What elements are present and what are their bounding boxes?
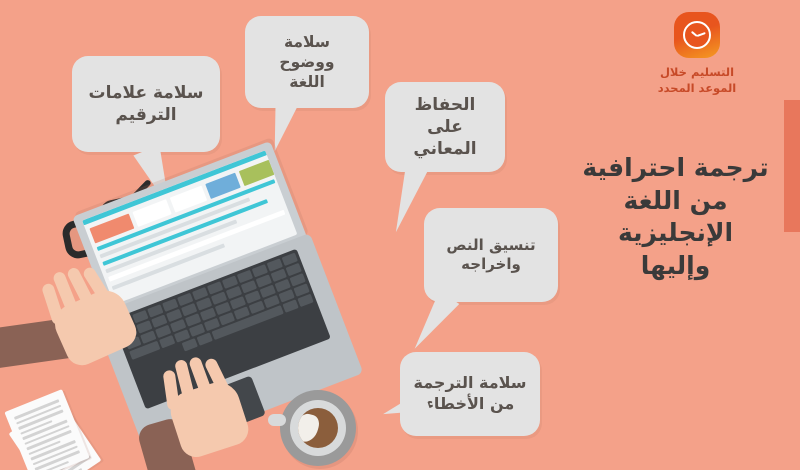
- right-accent-bar: [784, 100, 800, 232]
- keyboard-key: [197, 332, 213, 345]
- bubble-line-1: الحفاظ على: [395, 94, 495, 138]
- headline-line-3: الإنجليزية: [573, 217, 778, 250]
- headline-line-2: من اللغة: [573, 185, 778, 218]
- headline-line-1: ترجمة احترافية: [573, 152, 778, 185]
- paper-sheet: [4, 389, 89, 470]
- clock-minute-hand: [697, 32, 706, 37]
- bubble-text: سلامة ووضوح اللغة: [255, 32, 359, 92]
- page-title: ترجمة احترافية من اللغة الإنجليزية وإليه…: [573, 152, 778, 282]
- coffee-foam: [298, 412, 321, 444]
- logo-caption: التسليم خلال الموعد المحدد: [622, 65, 772, 96]
- brand-logo: التسليم خلال الموعد المحدد: [622, 12, 772, 96]
- coffee-cup: [290, 400, 346, 456]
- headline-line-4: وإليها: [573, 250, 778, 283]
- desk-illustration: [0, 150, 400, 470]
- poster-canvas: التسليم خلال الموعد المحدد ترجمة احترافي…: [0, 0, 800, 470]
- keyboard-key: [282, 299, 298, 312]
- coffee-liquid: [298, 408, 338, 448]
- speech-bubble-language: سلامة ووضوح اللغة: [245, 16, 369, 108]
- keyboard-key: [297, 294, 313, 307]
- keyboard-key: [159, 335, 175, 348]
- bubble-line-1: تنسيق النص: [446, 236, 535, 256]
- coffee-handle: [268, 414, 286, 426]
- bubble-line-2: واخراجه: [446, 255, 535, 275]
- bubble-line-2: الترقيم: [89, 104, 204, 126]
- bubble-line-2: المعاني: [395, 138, 495, 160]
- keyboard-key: [182, 338, 198, 351]
- bubble-line-1: سلامة علامات: [89, 82, 204, 104]
- logo-caption-line-1: التسليم خلال: [622, 65, 772, 81]
- speech-bubble-formatting: تنسيق النص واخراجه: [424, 208, 558, 302]
- bubble-tail: [405, 291, 460, 356]
- coffee-cup-icon: [280, 390, 356, 466]
- bubble-line-2: اللغة: [255, 72, 359, 92]
- bubble-text: سلامة علامات الترقيم: [89, 82, 204, 126]
- bubble-line-1: سلامة الترجمة: [414, 373, 527, 394]
- clock-face: [683, 21, 711, 49]
- speech-bubble-meaning: الحفاظ على المعاني: [385, 82, 505, 172]
- screen-content-block: [102, 199, 268, 266]
- clock-icon: [674, 12, 720, 58]
- paper-stack-icon: [14, 388, 110, 470]
- logo-caption-line-2: الموعد المحدد: [622, 81, 772, 97]
- speech-bubble-error-free: سلامة الترجمة من الأخطاء: [400, 352, 540, 436]
- bubble-text: تنسيق النص واخراجه: [446, 236, 535, 275]
- bubble-text: سلامة الترجمة من الأخطاء: [414, 373, 527, 415]
- bubble-text: الحفاظ على المعاني: [395, 94, 495, 160]
- bubble-line-1: سلامة ووضوح: [255, 32, 359, 72]
- bubble-line-2: من الأخطاء: [414, 394, 527, 415]
- speech-bubble-punctuation: سلامة علامات الترقيم: [72, 56, 220, 152]
